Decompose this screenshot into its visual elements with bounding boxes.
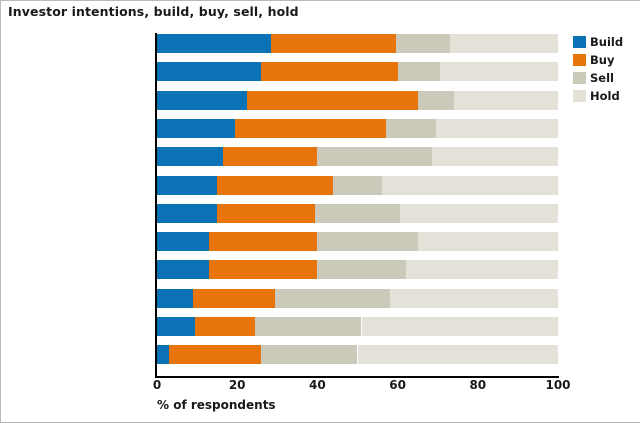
bar-segment-hold — [382, 176, 558, 195]
bar-segment-buy — [247, 91, 417, 110]
plot-area: 020406080100 % of respondents Saudi Arab… — [157, 33, 558, 376]
legend-swatch-icon — [573, 36, 586, 48]
bar-segment-buy — [261, 62, 397, 81]
legend-item-sell[interactable]: Sell — [573, 69, 635, 86]
bar-row: Morocco — [157, 232, 558, 251]
legend-swatch-icon — [573, 54, 586, 66]
bar-segment-buy — [217, 204, 315, 223]
bar-segment-buy — [209, 232, 317, 251]
bar-segment-buy — [223, 147, 317, 166]
x-tick-label: 0 — [153, 378, 161, 392]
bar-segment-sell — [418, 91, 454, 110]
bar-segment-build — [157, 91, 247, 110]
bar-segment-buy — [235, 119, 385, 138]
bar-row: Dubai — [157, 345, 558, 364]
x-axis-title: % of respondents — [157, 398, 276, 412]
bar-segment-hold — [418, 232, 558, 251]
bar-segment-sell — [317, 147, 431, 166]
bar-segment-build — [157, 119, 235, 138]
bar-segment-buy — [193, 289, 275, 308]
bar-segment-sell — [398, 62, 440, 81]
x-tick-label: 60 — [389, 378, 406, 392]
bar-segment-hold — [400, 204, 558, 223]
bar-segment-sell — [317, 232, 417, 251]
bar-row: Saudi Arabia/Other — [157, 34, 558, 53]
legend-item-buy[interactable]: Buy — [573, 51, 635, 68]
x-tick-label: 40 — [309, 378, 326, 392]
bar-segment-sell — [255, 317, 361, 336]
x-tick-label: 100 — [545, 378, 570, 392]
legend-label: Sell — [590, 72, 614, 84]
legend-label: Build — [590, 36, 623, 48]
bar-segment-buy — [169, 345, 261, 364]
bar-segment-build — [157, 62, 261, 81]
bar-segment-build — [157, 34, 271, 53]
bar-segment-hold — [390, 289, 558, 308]
bar-segment-hold — [406, 260, 558, 279]
bar-segment-sell — [333, 176, 381, 195]
bar-segment-hold — [362, 317, 558, 336]
bar-row: Qatar — [157, 204, 558, 223]
bar-row: Egypt — [157, 119, 558, 138]
x-tick-label: 80 — [469, 378, 486, 392]
bar-segment-sell — [315, 204, 399, 223]
bar-segment-sell — [396, 34, 450, 53]
legend-label: Hold — [590, 90, 620, 102]
bar-segment-build — [157, 176, 217, 195]
bar-segment-sell — [317, 260, 405, 279]
bar-segment-build — [157, 232, 209, 251]
chart-legend: BuildBuySellHold — [573, 33, 635, 105]
bar-segment-sell — [275, 289, 389, 308]
x-axis-ticks: 020406080100 — [157, 378, 558, 394]
bar-row: GCC/Other — [157, 289, 558, 308]
bar-segment-hold — [358, 345, 559, 364]
bar-segment-hold — [432, 147, 558, 166]
bar-row: Jeddah — [157, 62, 558, 81]
bar-row: North Africa — [157, 260, 558, 279]
bar-segment-hold — [436, 119, 558, 138]
bar-row: Riyadh — [157, 91, 558, 110]
legend-swatch-icon — [573, 72, 586, 84]
bar-row: Abu Dhabi — [157, 176, 558, 195]
bar-segment-sell — [261, 345, 357, 364]
bar-segment-buy — [195, 317, 255, 336]
chart-title: Investor intentions, build, buy, sell, h… — [8, 4, 299, 19]
bar-segment-build — [157, 204, 217, 223]
bar-segment-build — [157, 147, 223, 166]
bar-row: Levant — [157, 147, 558, 166]
bar-row: Emirates/Other — [157, 317, 558, 336]
bar-segment-hold — [450, 34, 558, 53]
x-tick-label: 20 — [229, 378, 246, 392]
bar-segment-sell — [386, 119, 436, 138]
bar-segment-buy — [271, 34, 395, 53]
bar-segment-buy — [209, 260, 317, 279]
bar-segment-build — [157, 260, 209, 279]
bar-segment-buy — [217, 176, 333, 195]
legend-label: Buy — [590, 54, 614, 66]
legend-item-build[interactable]: Build — [573, 33, 635, 50]
legend-swatch-icon — [573, 90, 586, 102]
bar-segment-build — [157, 289, 193, 308]
stacked-bar-chart: Investor intentions, build, buy, sell, h… — [0, 0, 640, 422]
bar-segment-build — [157, 317, 195, 336]
bar-segment-build — [157, 345, 169, 364]
bar-segment-hold — [440, 62, 558, 81]
bar-segment-hold — [454, 91, 558, 110]
legend-item-hold[interactable]: Hold — [573, 87, 635, 104]
